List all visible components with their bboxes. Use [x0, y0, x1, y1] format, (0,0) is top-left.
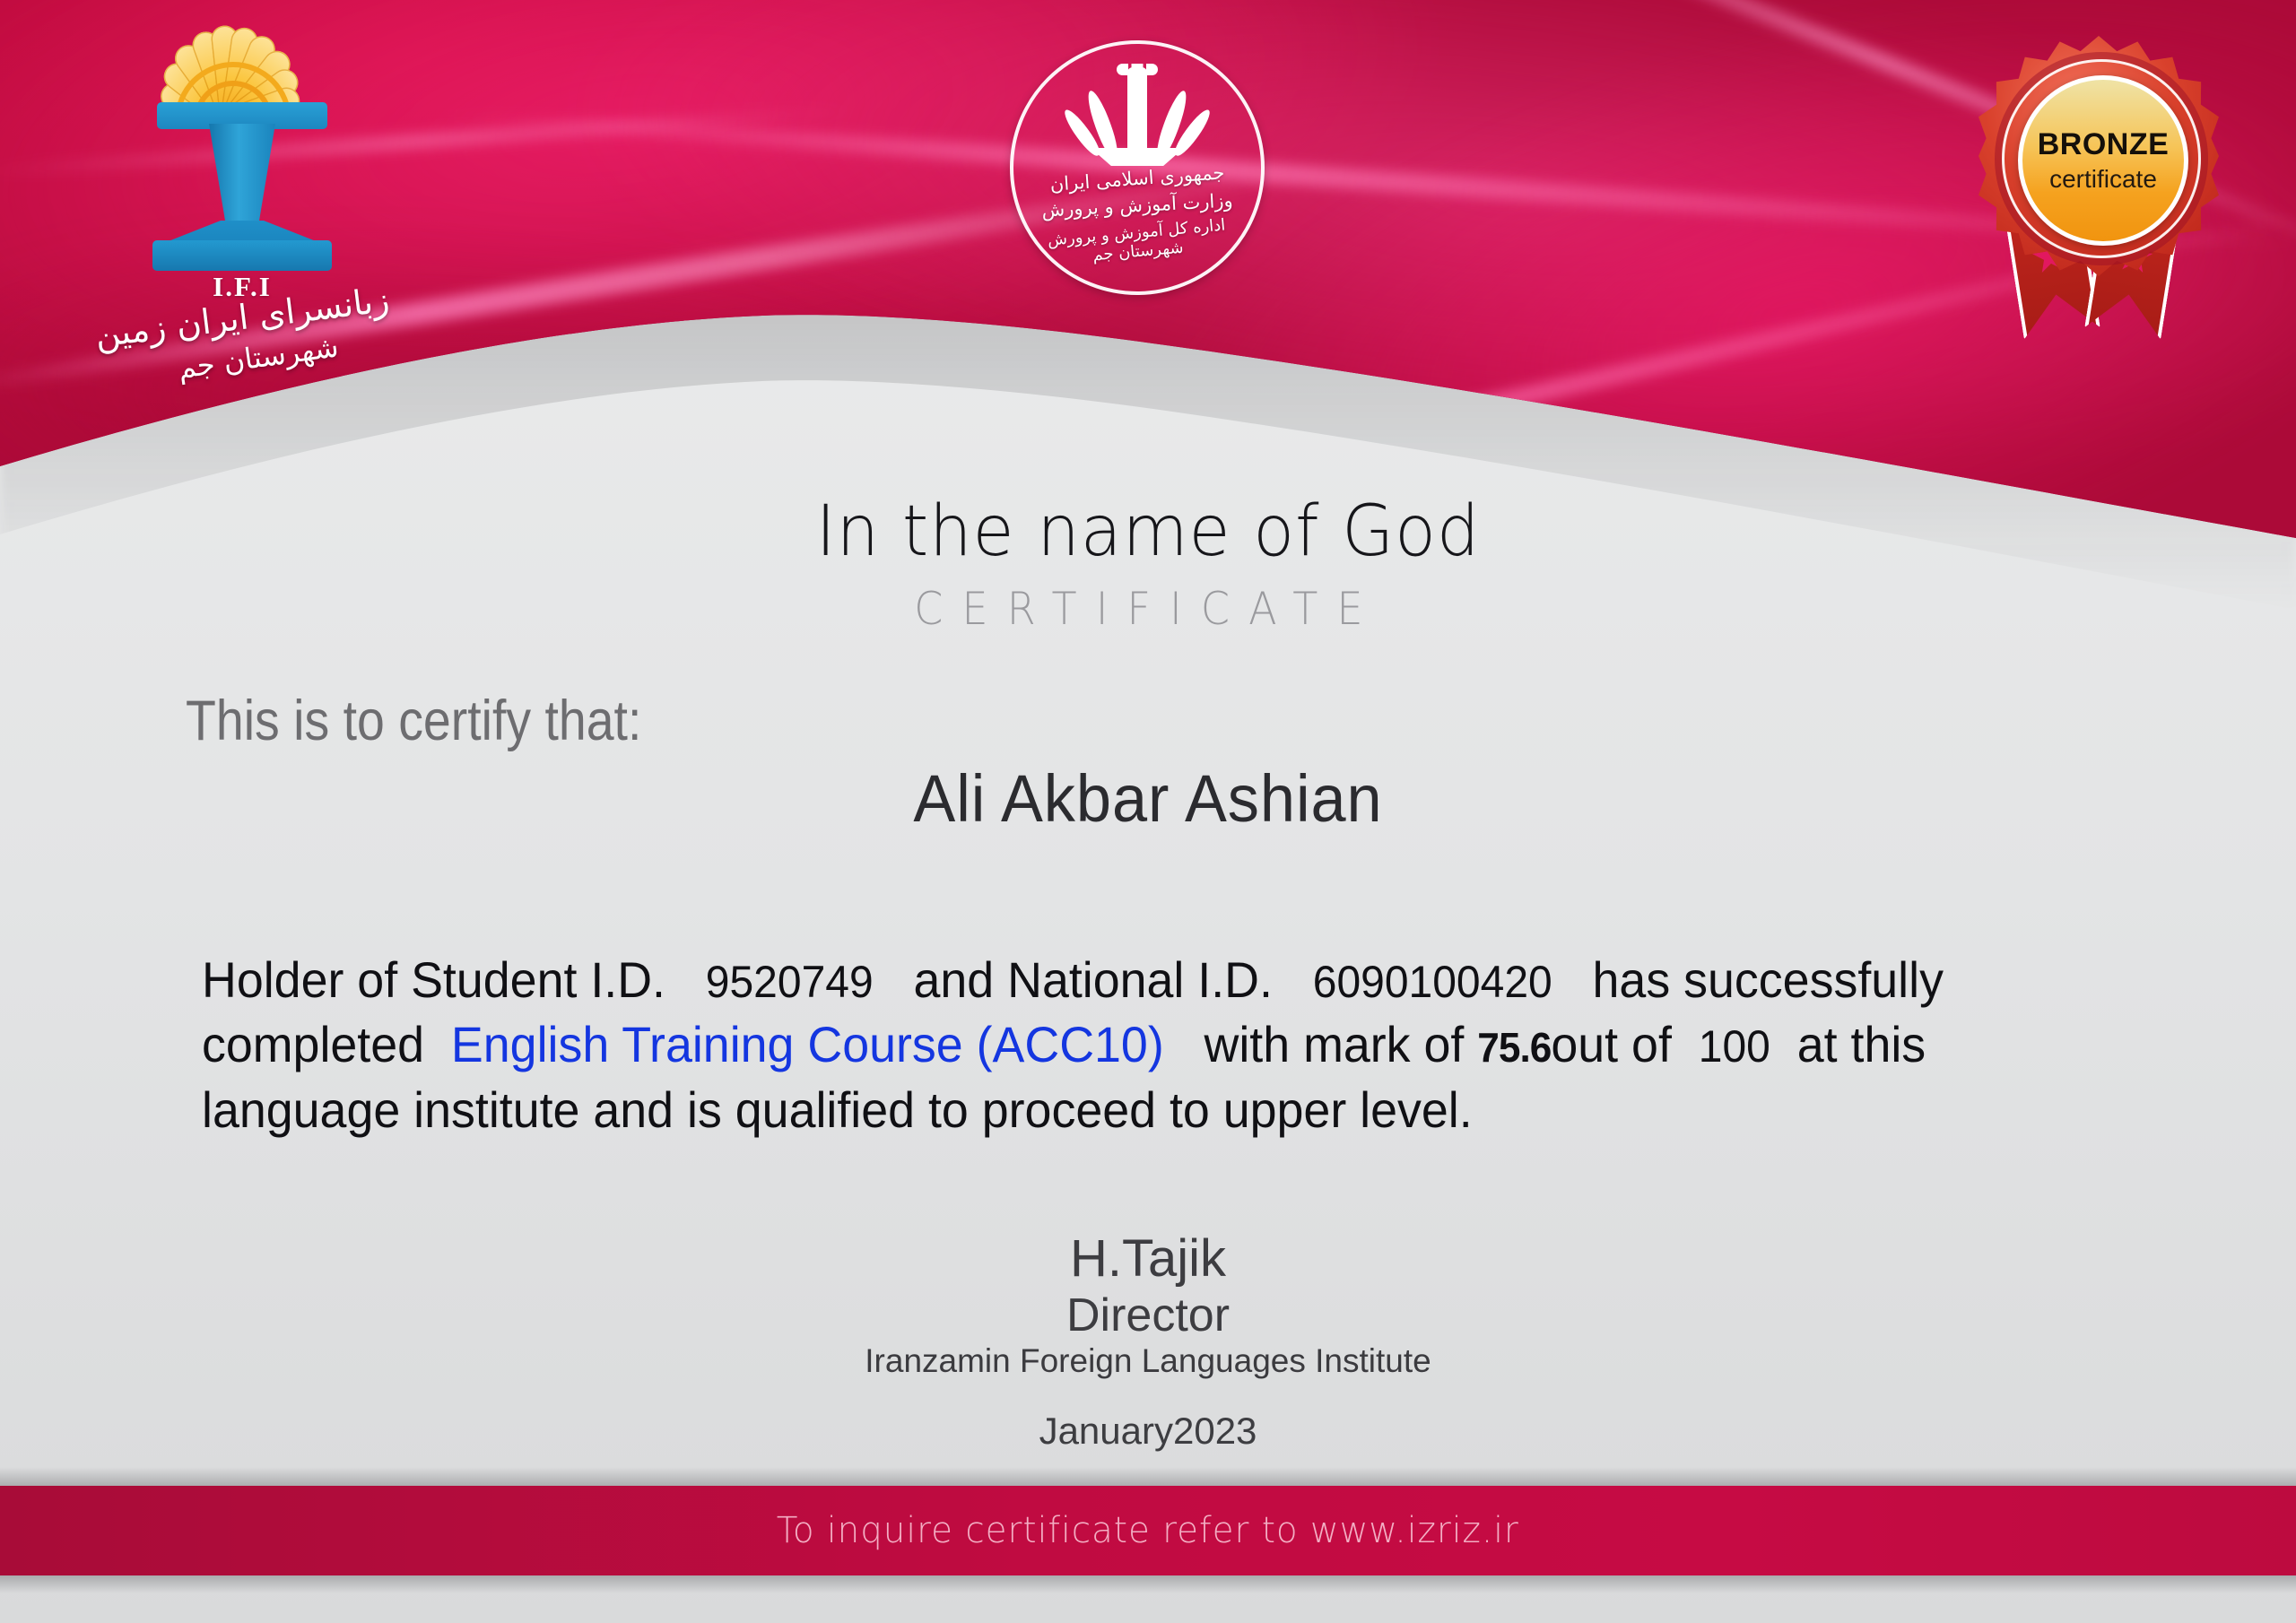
- issue-date: January2023: [0, 1410, 2296, 1453]
- certify-label: This is to certify that:: [186, 689, 641, 753]
- institute-logo: I.F.I زبانسرای ایران زمین شهرستان جم: [54, 9, 430, 377]
- badge-center: BRONZE certificate: [2018, 75, 2188, 246]
- footer-bar: To inquire certificate refer to www.izri…: [0, 1486, 2296, 1575]
- footer-notice: To inquire certificate refer to www.izri…: [777, 1510, 1519, 1551]
- iran-national-emblem-icon: [1070, 65, 1205, 166]
- certificate-document: I.F.I زبانسرای ایران زمین شهرستان جم جمه…: [0, 0, 2296, 1623]
- signatory-role: Director: [0, 1289, 2296, 1342]
- ministry-seal: جمهوری اسلامی ایران وزارت آموزش و پرورش …: [1010, 40, 1265, 295]
- max-mark-value: 100: [1699, 1021, 1770, 1072]
- national-id-value: 6090100420: [1313, 957, 1552, 1007]
- signatory-organization: Iranzamin Foreign Languages Institute: [0, 1342, 2296, 1380]
- column-base-icon: [152, 240, 332, 271]
- holder-name: Ali Akbar Ashian: [57, 760, 2239, 837]
- mark-value: 75.6: [1477, 1024, 1551, 1071]
- body-text-part2: and National I.D.: [913, 951, 1272, 1008]
- certificate-title: CERTIFICATE: [91, 583, 2204, 635]
- badge-subtitle: certificate: [2049, 167, 2157, 192]
- footer-shadow: [0, 1575, 2296, 1593]
- invocation-title: In the name of God: [46, 491, 2250, 572]
- student-id-value: 9520749: [706, 957, 874, 1007]
- body-text-part1: Holder of Student I.D.: [202, 951, 665, 1008]
- certificate-body: Holder of Student I.D. 9520749 and Natio…: [202, 949, 2027, 1141]
- body-period: .: [1459, 1081, 1473, 1138]
- course-name: English Training Course (ACC10): [451, 1016, 1164, 1072]
- award-badge: BRONZE certificate: [1971, 36, 2231, 332]
- emblem-base: [1091, 148, 1184, 166]
- body-text-part5: out of: [1551, 1016, 1672, 1072]
- emblem-sword: [1127, 67, 1147, 161]
- badge-tier-label: BRONZE: [2038, 129, 2170, 160]
- footer-shadow: [0, 1467, 2296, 1487]
- signatory-name: H.Tajik: [0, 1228, 2296, 1289]
- body-text-part4: with mark of: [1205, 1016, 1465, 1072]
